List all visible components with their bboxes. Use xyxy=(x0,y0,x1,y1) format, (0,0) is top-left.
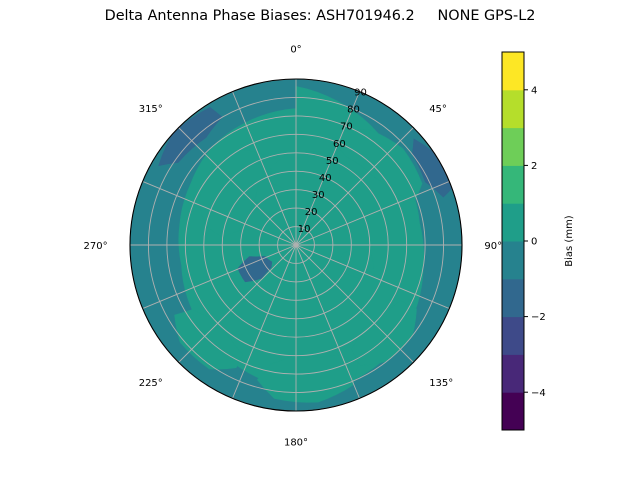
colorbar-band-2 xyxy=(502,317,524,355)
theta-tick-label-270: 270° xyxy=(84,241,108,252)
colorbar-band-0 xyxy=(502,392,524,430)
theta-tick-label-180: 180° xyxy=(284,437,308,448)
page-title: Delta Antenna Phase Biases: ASH701946.2 … xyxy=(0,8,640,24)
colorbar-axis-label: Bias (mm) xyxy=(564,215,575,267)
polar-grid-group xyxy=(130,79,462,411)
radial-tick-label-70: 70 xyxy=(340,122,353,133)
radial-tick-label-80: 80 xyxy=(347,105,360,116)
colorbar-tick-label-0: 0 xyxy=(531,237,537,248)
colorbar-svg: −4−2024 Bias (mm) xyxy=(498,50,618,432)
theta-tick-label-0: 0° xyxy=(290,45,301,56)
colorbar-band-group xyxy=(502,52,524,431)
colorbar-band-5 xyxy=(502,203,524,241)
colorbar-axes: −4−2024 Bias (mm) xyxy=(498,50,618,432)
theta-tick-label-315: 315° xyxy=(139,104,163,115)
radial-tick-label-90: 90 xyxy=(354,88,367,99)
radial-tick-label-40: 40 xyxy=(319,173,332,184)
radial-tick-label-20: 20 xyxy=(305,207,318,218)
polar-plot-svg: 0°45°90°135°180°225°270°315° 10203040506… xyxy=(103,52,489,438)
colorbar-tick-label--2: −2 xyxy=(531,312,546,323)
colorbar-tick-group: −4−2024 xyxy=(524,85,546,398)
colorbar-band-8 xyxy=(502,90,524,128)
colorbar-tick-label-2: 2 xyxy=(531,161,537,172)
colorbar-band-6 xyxy=(502,165,524,203)
theta-tick-label-45: 45° xyxy=(429,104,447,115)
theta-tick-label-135: 135° xyxy=(429,378,453,389)
colorbar-tick-label--4: −4 xyxy=(531,388,546,399)
colorbar-band-7 xyxy=(502,128,524,166)
polar-plot-axes: 0°45°90°135°180°225°270°315° 10203040506… xyxy=(103,52,489,438)
colorbar-band-3 xyxy=(502,279,524,317)
radial-tick-label-30: 30 xyxy=(312,190,325,201)
radial-tick-label-60: 60 xyxy=(333,139,346,150)
matplotlib-figure: Delta Antenna Phase Biases: ASH701946.2 … xyxy=(0,0,640,480)
colorbar-band-1 xyxy=(502,354,524,392)
radial-tick-label-50: 50 xyxy=(326,156,339,167)
colorbar-band-4 xyxy=(502,241,524,279)
colorbar-tick-label-4: 4 xyxy=(531,85,537,96)
radial-tick-label-10: 10 xyxy=(298,224,311,235)
colorbar-band-9 xyxy=(502,52,524,90)
theta-tick-label-225: 225° xyxy=(139,378,163,389)
